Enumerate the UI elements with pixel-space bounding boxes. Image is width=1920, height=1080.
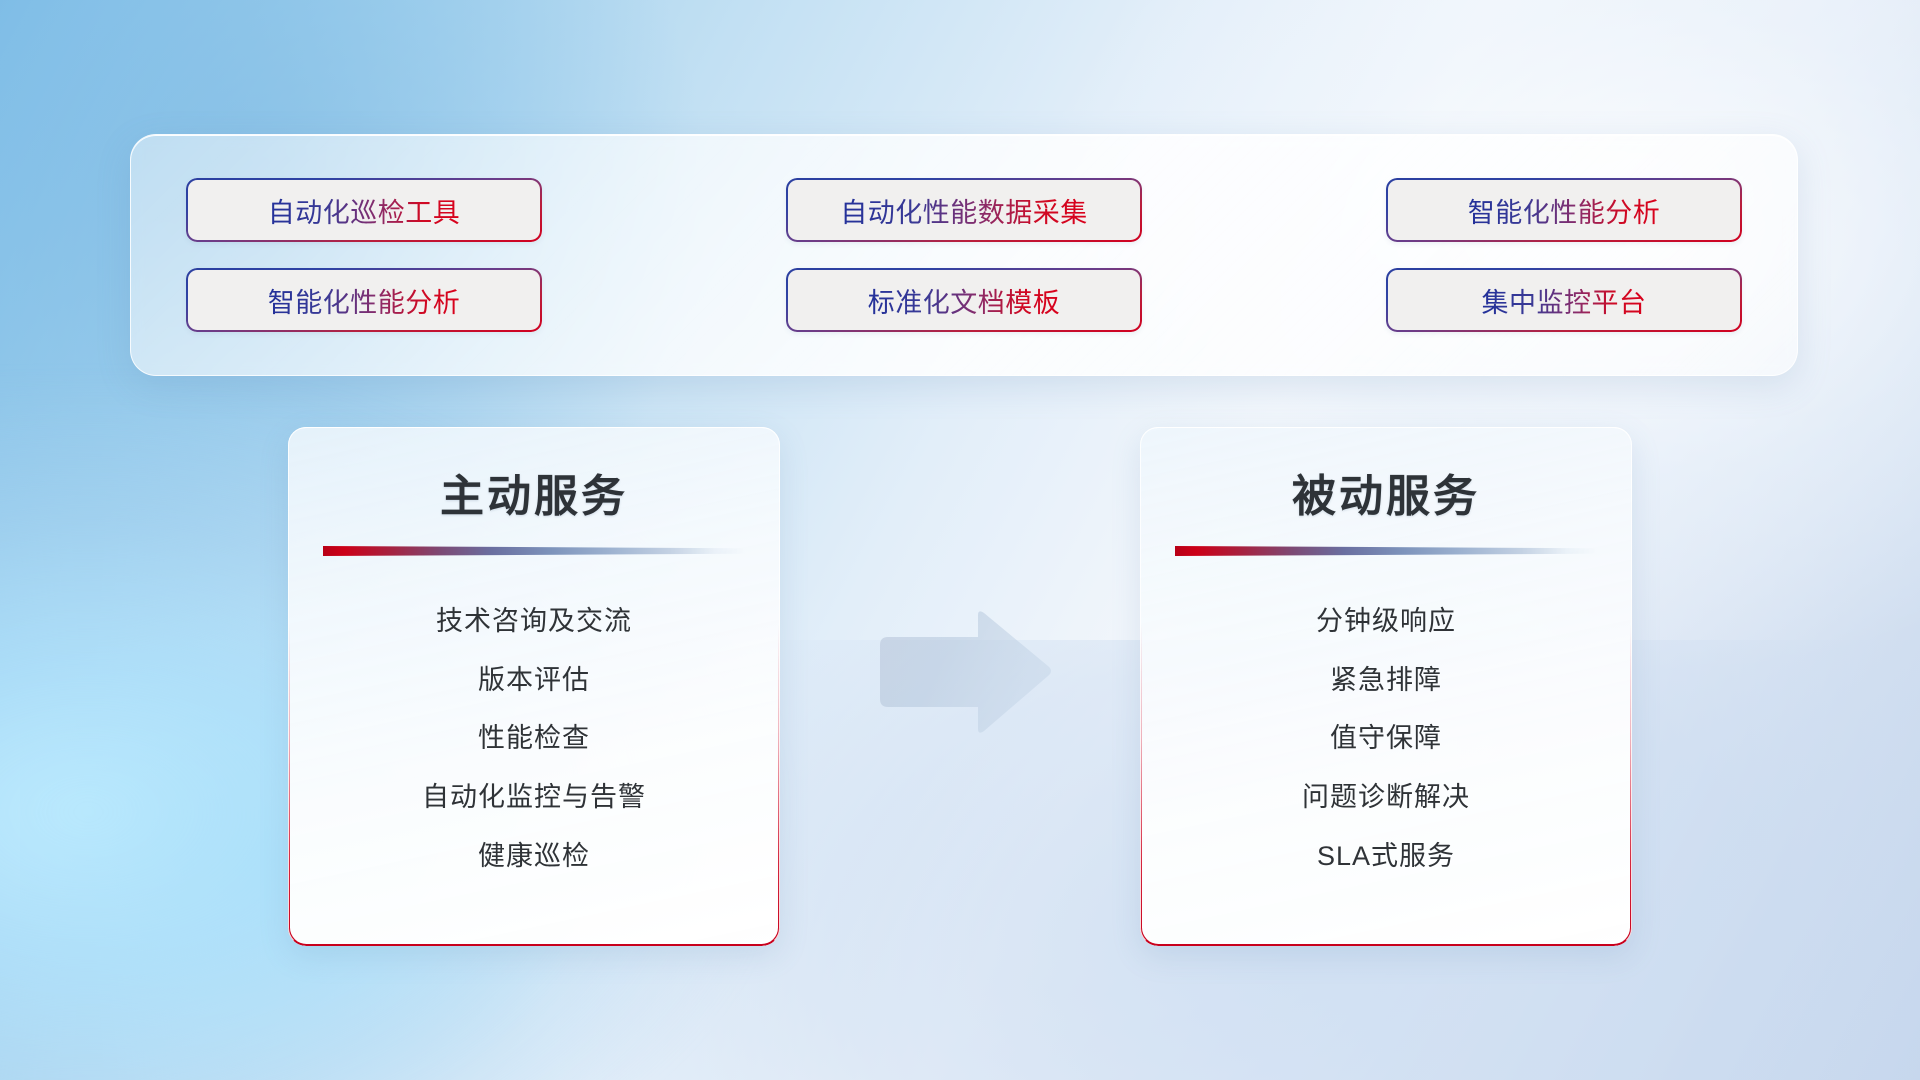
capability-pill-label: 集中监控平台 — [1482, 281, 1647, 320]
capability-pill-automated-inspection-tool[interactable]: 自动化巡检工具 — [186, 178, 542, 242]
service-item-list: 分钟级响应 紧急排障 值守保障 问题诊断解决 SLA式服务 — [1176, 592, 1596, 885]
service-card-body: 主动服务 技术咨询及交流 版本评估 性能检查 自动化监控与告警 健康巡检 — [288, 427, 780, 946]
service-item: 值守保障 — [1176, 709, 1596, 768]
capabilities-row-1: 自动化巡检工具 自动化性能数据采集 智能化性能分析 — [186, 178, 1742, 242]
capability-pill-label: 智能化性能分析 — [268, 281, 461, 320]
capability-pill-label: 自动化性能数据采集 — [840, 191, 1088, 230]
capability-pill-label: 标准化文档模板 — [868, 281, 1061, 320]
capability-pill-label: 自动化巡检工具 — [268, 191, 461, 230]
capability-pill-centralized-monitoring-platform[interactable]: 集中监控平台 — [1386, 268, 1742, 332]
title-underline-gradient — [323, 546, 745, 556]
service-item-list: 技术咨询及交流 版本评估 性能检查 自动化监控与告警 健康巡检 — [324, 592, 744, 885]
service-item: 自动化监控与告警 — [324, 768, 744, 827]
service-card-proactive: 主动服务 技术咨询及交流 版本评估 性能检查 自动化监控与告警 健康巡检 — [288, 427, 780, 946]
service-item: 分钟级响应 — [1176, 592, 1596, 651]
service-item: 紧急排障 — [1176, 651, 1596, 710]
service-card-body: 被动服务 分钟级响应 紧急排障 值守保障 问题诊断解决 SLA式服务 — [1140, 427, 1632, 946]
service-item: 问题诊断解决 — [1176, 768, 1596, 827]
service-item: 版本评估 — [324, 651, 744, 710]
capabilities-panel: 自动化巡检工具 自动化性能数据采集 智能化性能分析 智能化性能分析 标准化文档模… — [130, 134, 1798, 376]
capability-pill-intelligent-performance-analysis-bottom[interactable]: 智能化性能分析 — [186, 268, 542, 332]
service-card-reactive: 被动服务 分钟级响应 紧急排障 值守保障 问题诊断解决 SLA式服务 — [1140, 427, 1632, 946]
title-underline-bar — [1175, 546, 1597, 556]
capability-pill-intelligent-performance-analysis-top[interactable]: 智能化性能分析 — [1386, 178, 1742, 242]
capability-pill-standardized-document-template[interactable]: 标准化文档模板 — [786, 268, 1142, 332]
capability-pill-label: 智能化性能分析 — [1468, 191, 1661, 230]
title-underline-gradient — [1175, 546, 1597, 556]
service-item: 性能检查 — [324, 709, 744, 768]
service-item: SLA式服务 — [1176, 827, 1596, 886]
capability-pill-automated-performance-data-collection[interactable]: 自动化性能数据采集 — [786, 178, 1142, 242]
service-card-title: 主动服务 — [440, 460, 628, 524]
arrow-right-icon — [872, 611, 1052, 734]
capabilities-row-2: 智能化性能分析 标准化文档模板 集中监控平台 — [186, 268, 1742, 332]
service-card-title: 被动服务 — [1292, 460, 1480, 524]
service-item: 健康巡检 — [324, 827, 744, 886]
title-underline-bar — [323, 546, 745, 556]
service-item: 技术咨询及交流 — [324, 592, 744, 651]
